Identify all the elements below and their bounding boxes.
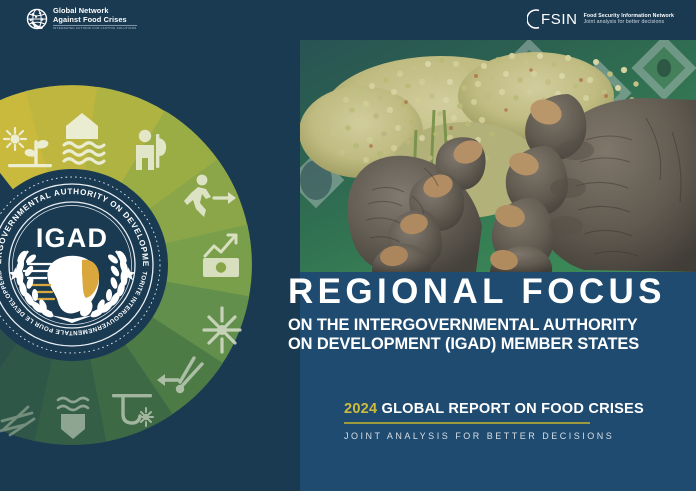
fsin-line2: Joint analysis for better decisions [584, 19, 674, 26]
fsin-mark: FSIN [527, 9, 578, 29]
page-title: REGIONAL FOCUS [288, 274, 680, 309]
page-subtitle-line1: ON THE INTERGOVERNMENTAL AUTHORITY [288, 316, 680, 335]
report-series-line: 2024 GLOBAL REPORT ON FOOD CRISES [344, 401, 680, 417]
gnafc-line2: Against Food Crises [53, 16, 137, 26]
cover-title-block: REGIONAL FOCUS ON THE INTERGOVERNMENTAL … [288, 274, 680, 355]
fsin-wordmark: FSIN [541, 11, 578, 28]
gnafc-tagline: INTEGRATED ACTIONS FOR LASTING SOLUTIONS [53, 27, 137, 30]
report-cover: INTERGOVERNMENTAL AUTHORITY ON DEVELOPME… [0, 0, 696, 491]
gnafc-logo: Global Network Against Food Crises INTEG… [26, 7, 137, 30]
report-series-block: 2024 GLOBAL REPORT ON FOOD CRISES JOINT … [344, 401, 680, 441]
gnafc-line1: Global Network [53, 7, 137, 14]
report-tagline: JOINT ANALYSIS FOR BETTER DECISIONS [344, 431, 680, 441]
seal-center-text: IGAD [36, 223, 108, 253]
fsin-logo: FSIN Food Security Information Network J… [527, 9, 674, 29]
report-name: GLOBAL REPORT ON FOOD CRISES [377, 401, 644, 417]
fsin-arc-icon [527, 9, 541, 29]
drivers-wheel-panel: INTERGOVERNMENTAL AUTHORITY ON DEVELOPME… [0, 40, 300, 491]
globe-network-icon [26, 8, 48, 30]
gold-divider [344, 422, 590, 424]
header-bar: Global Network Against Food Crises INTEG… [0, 0, 696, 40]
report-year: 2024 [344, 401, 377, 417]
page-subtitle-line2: ON DEVELOPMENT (IGAD) MEMBER STATES [288, 335, 680, 354]
